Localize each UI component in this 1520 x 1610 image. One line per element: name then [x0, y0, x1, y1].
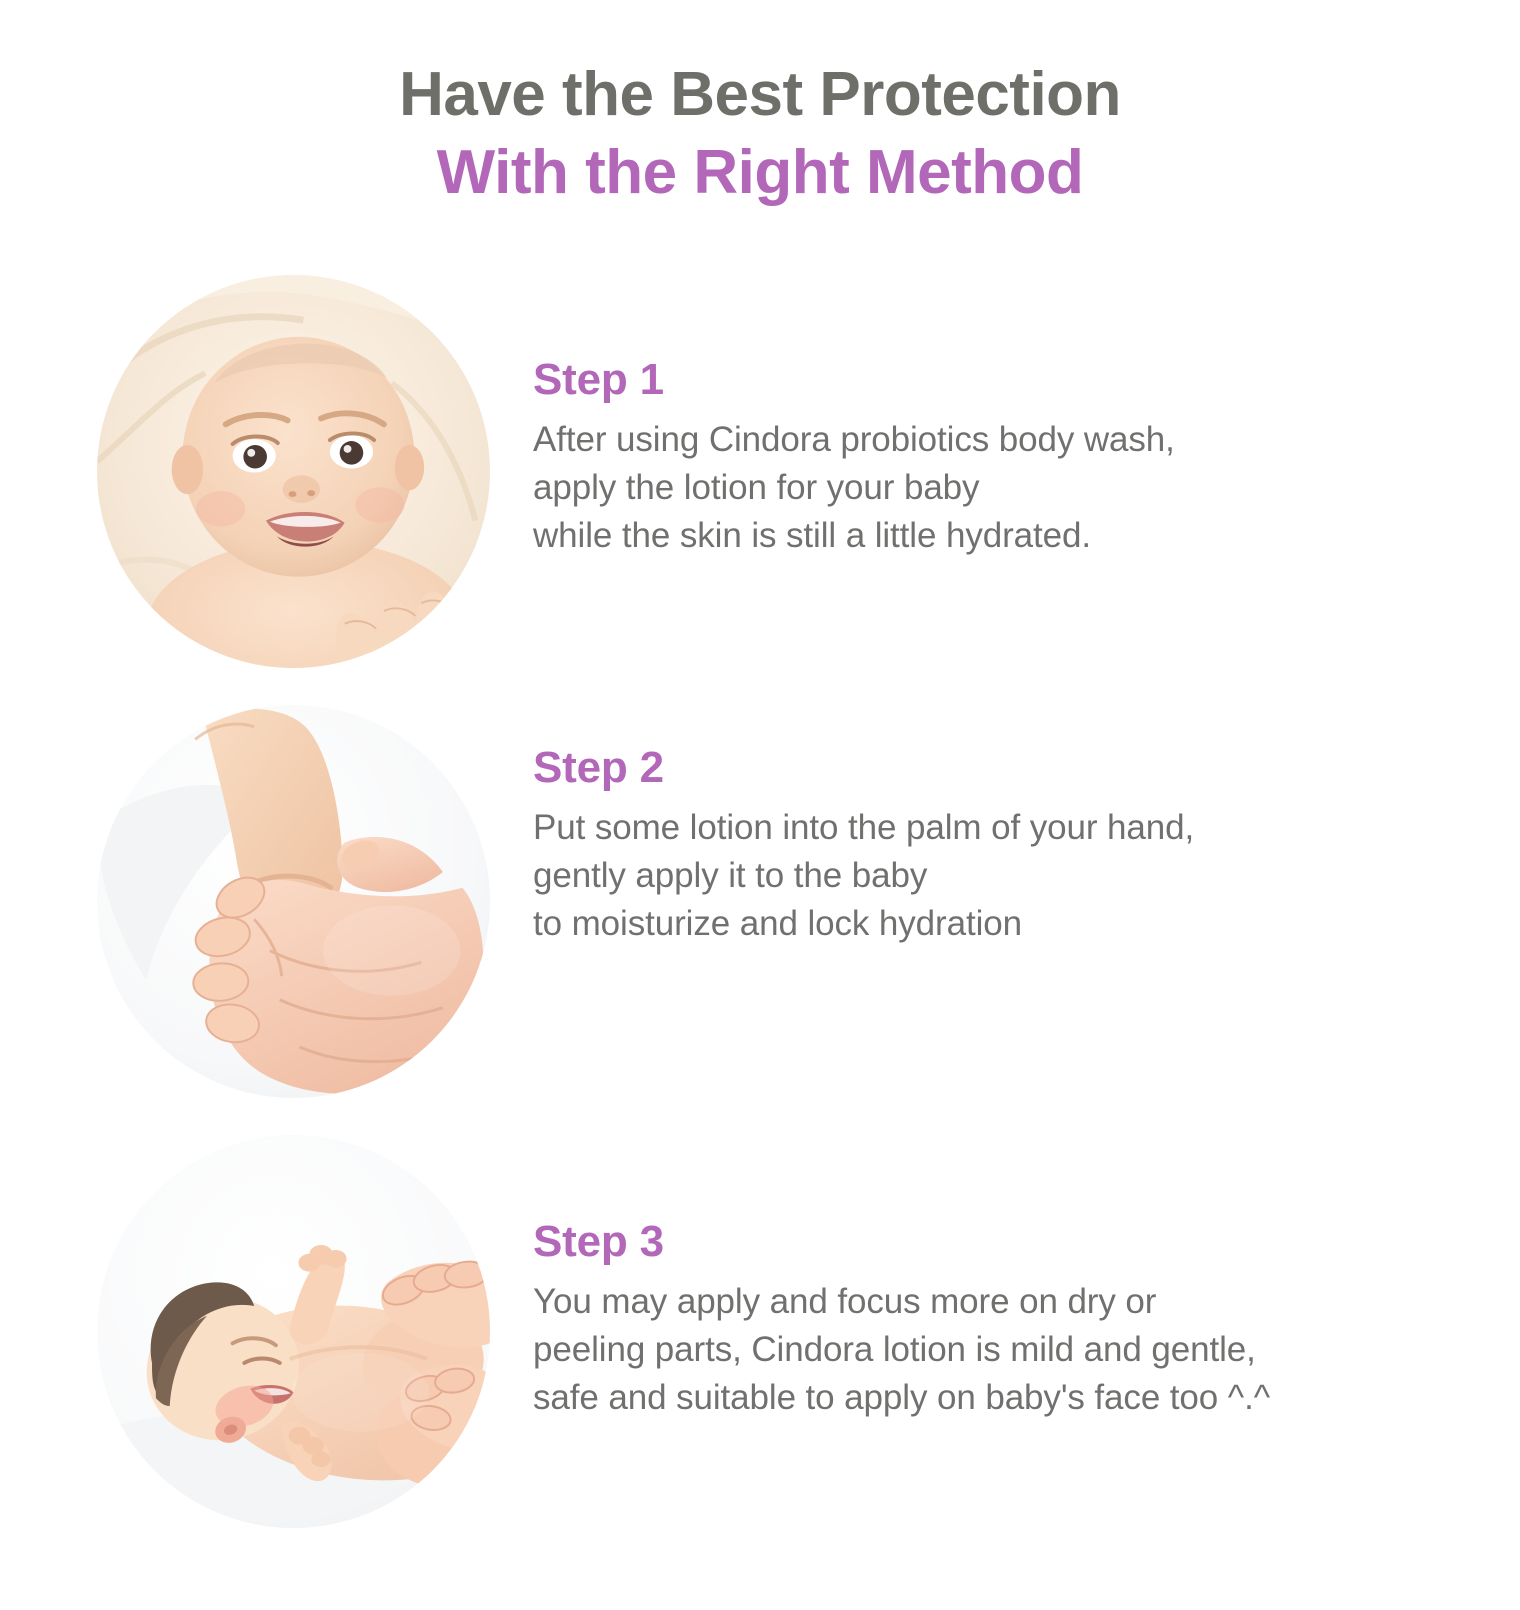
hand-holding-baby-hand-photo-illustration: [97, 705, 490, 1098]
page-title-line-1: Have the Best Protection: [0, 56, 1520, 134]
step-3-text-block: Step 3 You may apply and focus more on d…: [533, 1214, 1453, 1422]
step-row-3: Step 3 You may apply and focus more on d…: [0, 1132, 1520, 1532]
step-3-heading: Step 3: [533, 1214, 1453, 1270]
step-row-1: Step 1 After using Cindora probiotics bo…: [0, 272, 1520, 672]
step-3-photo: [97, 1135, 490, 1528]
step-2-body-line-3: to moisturize and lock hydration: [533, 900, 1453, 948]
baby-massage-photo-illustration: [97, 1135, 490, 1528]
step-1-heading: Step 1: [533, 352, 1453, 408]
step-2-body-line-1: Put some lotion into the palm of your ha…: [533, 804, 1453, 852]
step-3-body-line-2: peeling parts, Cindora lotion is mild an…: [533, 1326, 1453, 1374]
step-2-text-block: Step 2 Put some lotion into the palm of …: [533, 740, 1453, 948]
step-3-body: You may apply and focus more on dry or p…: [533, 1278, 1453, 1422]
step-3-body-line-1: You may apply and focus more on dry or: [533, 1278, 1453, 1326]
step-3-body-line-3: safe and suitable to apply on baby's fac…: [533, 1374, 1453, 1422]
step-1-body-line-3: while the skin is still a little hydrate…: [533, 512, 1453, 560]
step-1-text-block: Step 1 After using Cindora probiotics bo…: [533, 352, 1453, 560]
step-2-body: Put some lotion into the palm of your ha…: [533, 804, 1453, 948]
step-1-body: After using Cindora probiotics body wash…: [533, 416, 1453, 560]
infographic-page: Have the Best Protection With the Right …: [0, 0, 1520, 1610]
step-1-photo: [97, 275, 490, 668]
step-1-body-line-2: apply the lotion for your baby: [533, 464, 1453, 512]
step-row-2: Step 2 Put some lotion into the palm of …: [0, 702, 1520, 1102]
page-header: Have the Best Protection With the Right …: [0, 56, 1520, 212]
step-2-body-line-2: gently apply it to the baby: [533, 852, 1453, 900]
baby-smiling-photo-illustration: [97, 275, 490, 668]
step-1-body-line-1: After using Cindora probiotics body wash…: [533, 416, 1453, 464]
step-2-photo: [97, 705, 490, 1098]
page-title-line-2: With the Right Method: [0, 134, 1520, 212]
step-2-heading: Step 2: [533, 740, 1453, 796]
